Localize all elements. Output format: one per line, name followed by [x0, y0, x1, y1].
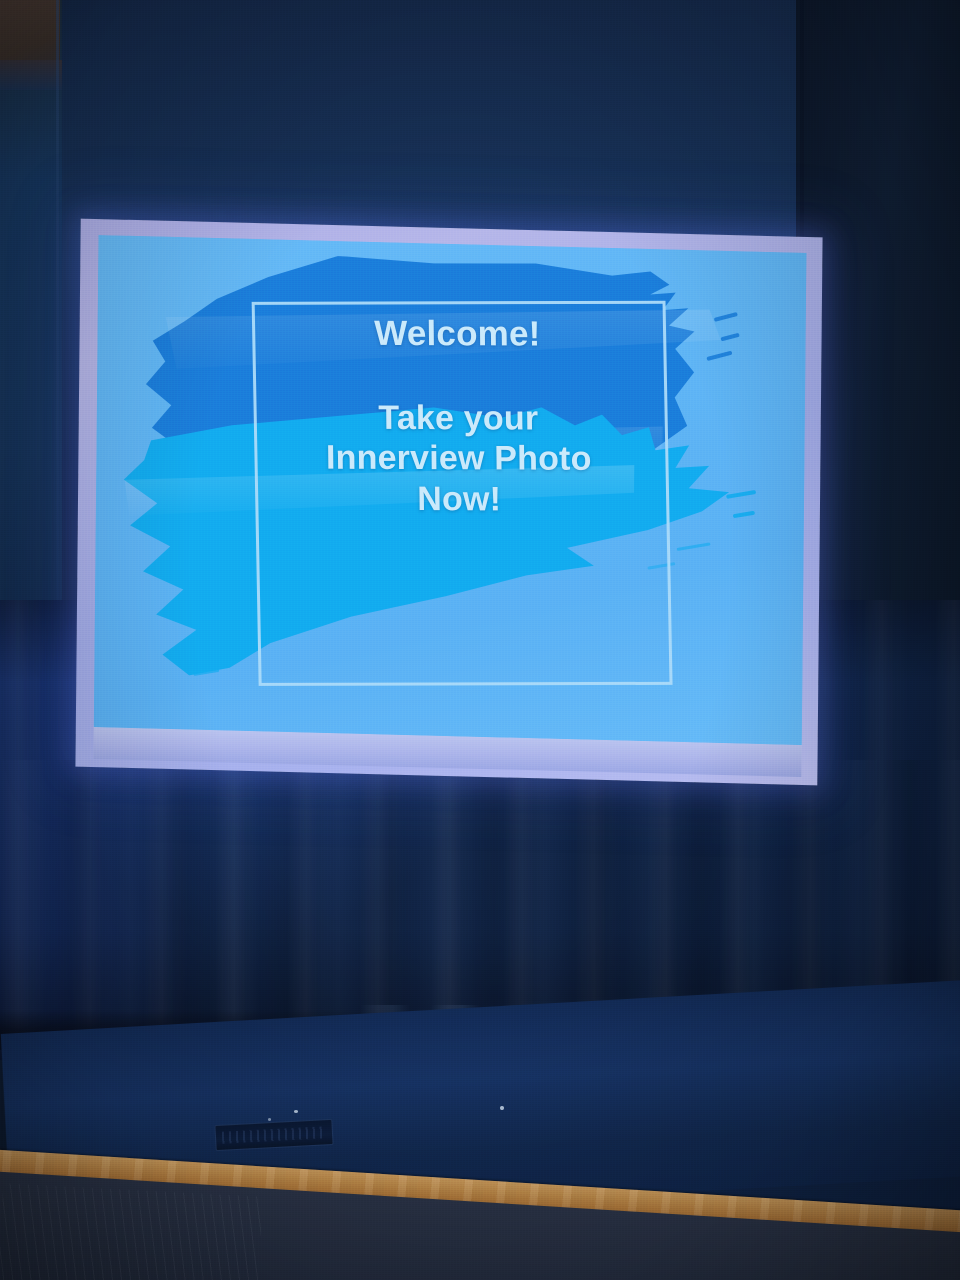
floor-speck — [294, 1110, 298, 1113]
wall-seam-left — [56, 0, 59, 650]
bristle-fleck — [733, 510, 755, 518]
slide-line-3: Now! — [239, 478, 678, 520]
auditorium-scene: Welcome! Take your Innerview Photo Now! — [0, 0, 960, 1280]
slide-heading: Welcome! — [237, 312, 676, 355]
projected-slide-area[interactable]: Welcome! Take your Innerview Photo Now! — [94, 235, 807, 745]
slide-line-1: Take your — [238, 397, 677, 439]
bristle-fleck — [720, 332, 739, 341]
slide-text-block: Welcome! Take your Innerview Photo Now! — [237, 312, 678, 520]
stage-apron-scuffs — [0, 1183, 263, 1280]
bristle-fleck — [676, 543, 710, 552]
back-wall-left-strip — [0, 0, 62, 640]
floor-speck — [500, 1106, 504, 1110]
slide-line-2: Innerview Photo — [239, 438, 678, 480]
bristle-fleck — [726, 490, 756, 499]
projection-screen[interactable]: Welcome! Take your Innerview Photo Now! — [75, 219, 822, 786]
floor-speck — [268, 1118, 271, 1121]
slide-text-spacer — [238, 353, 677, 399]
bristle-fleck — [706, 351, 732, 361]
bristle-fleck — [714, 312, 738, 322]
slide-canvas: Welcome! Take your Innerview Photo Now! — [94, 235, 807, 745]
ceiling-warm-patch-2 — [0, 60, 62, 90]
